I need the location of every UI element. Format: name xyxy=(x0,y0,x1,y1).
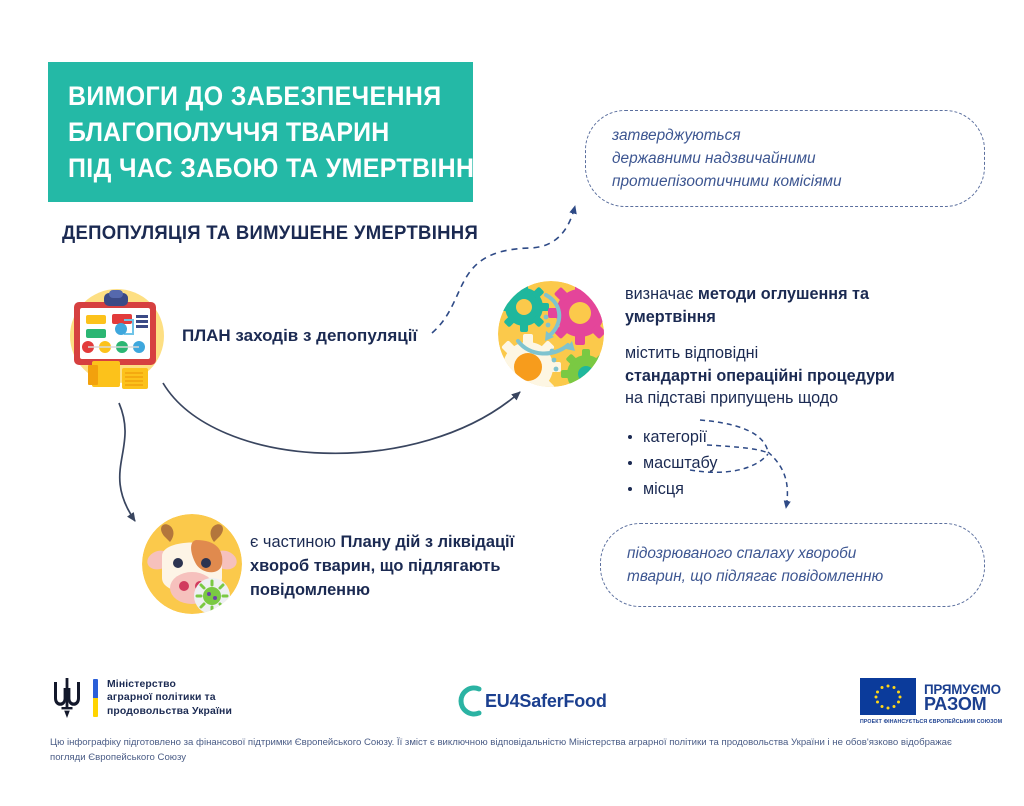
title-line-2: БЛАГОПОЛУЧЧЯ ТВАРИН xyxy=(68,114,430,150)
methods-prefix: визначає xyxy=(625,285,698,303)
eu4saferfood-wordmark: EU4SaferFood xyxy=(485,691,607,712)
outbreak-bubble: підозрюваного спалаху хвороби тварин, що… xyxy=(600,523,985,607)
title-line-3: ПІД ЧАС ЗАБОЮ ТА УМЕРТВІННЯ xyxy=(68,150,430,186)
title-line-1: ВИМОГИ ДО ЗАБЕЗПЕЧЕННЯ xyxy=(68,78,430,114)
approval-line-3: протиепізоотичними комісіями xyxy=(612,173,842,190)
eu-funding-caption: ПРОЕКТ ФІНАНСУЄТЬСЯ ЄВРОПЕЙСЬКИМ СОЮЗОМ xyxy=(860,719,1002,725)
eu-together-logo: ПРЯМУЄМО РАЗОМ ПРОЕКТ ФІНАНСУЄТЬСЯ ЄВРОП… xyxy=(860,678,1002,725)
approval-bubble-text: затверджуються державними надзвичайними … xyxy=(586,124,868,193)
title-band: ВИМОГИ ДО ЗАБЕЗПЕЧЕННЯ БЛАГОПОЛУЧЧЯ ТВАР… xyxy=(48,62,473,202)
eu-together-wordmark: ПРЯМУЄМО РАЗОМ xyxy=(924,682,1001,712)
list-item: масштабу xyxy=(625,450,955,476)
sop-suffix: на підставі припущень щодо xyxy=(625,389,838,407)
ukraine-flag-bar xyxy=(93,679,98,717)
right-text-column: визначає методи оглушення та умертвіння … xyxy=(625,283,955,502)
eu-word-2: РАЗОМ xyxy=(924,697,1001,712)
outbreak-bubble-text: підозрюваного спалаху хвороби тварин, що… xyxy=(601,542,909,588)
cow-text-block: є частиною Плану дій з ліквідації хвороб… xyxy=(250,530,570,602)
ministry-logo: Міністерство аграрної політики та продов… xyxy=(50,676,232,720)
arrow-plan-to-cow xyxy=(119,403,135,521)
gears-icon xyxy=(496,279,606,389)
plan-label: ПЛАН заходів з депопуляції xyxy=(182,326,417,346)
assumption-bullets: категорії масштабу місця xyxy=(625,424,955,502)
list-item: місця xyxy=(625,476,955,502)
eu4saferfood-logo: EU4SaferFood xyxy=(455,684,607,718)
ministry-line-1: Міністерство xyxy=(107,678,232,692)
approval-bubble: затверджуються державними надзвичайними … xyxy=(585,110,985,207)
sop-paragraph: містить відповідні стандартні операційні… xyxy=(625,342,955,410)
sop-prefix: містить відповідні xyxy=(625,344,758,362)
arrow-plan-to-gears xyxy=(163,383,520,453)
approval-line-2: державними надзвичайними xyxy=(612,150,816,167)
outbreak-line-1: підозрюваного спалаху хвороби xyxy=(627,545,856,562)
ukraine-trident-icon xyxy=(50,676,84,720)
eu-flag-icon xyxy=(860,678,916,715)
cow-text-prefix: є частиною xyxy=(250,533,340,551)
outbreak-line-2: тварин, що підлягає повідомленню xyxy=(627,568,883,585)
ministry-line-3: продовольства України xyxy=(107,705,232,719)
sop-bold: стандартні операційні процедури xyxy=(625,367,895,385)
list-item: категорії xyxy=(625,424,955,450)
cow-disease-icon xyxy=(140,512,244,616)
funding-disclaimer: Цю інфографіку підготовлено за фінансово… xyxy=(50,736,985,765)
eu4-suffix: SaferFood xyxy=(519,691,606,711)
methods-paragraph: визначає методи оглушення та умертвіння xyxy=(625,283,955,328)
green-arc-icon xyxy=(455,684,485,718)
eu4-prefix: EU4 xyxy=(485,691,519,711)
clipboard-plan-icon xyxy=(62,284,172,392)
page-subtitle: ДЕПОПУЛЯЦІЯ ТА ВИМУШЕНЕ УМЕРТВІННЯ xyxy=(62,222,478,245)
ministry-line-2: аграрної політики та xyxy=(107,691,232,705)
infographic-canvas: ВИМОГИ ДО ЗАБЕЗПЕЧЕННЯ БЛАГОПОЛУЧЧЯ ТВАР… xyxy=(0,0,1024,806)
approval-line-1: затверджуються xyxy=(612,127,741,144)
ministry-name: Міністерство аграрної політики та продов… xyxy=(107,678,232,719)
